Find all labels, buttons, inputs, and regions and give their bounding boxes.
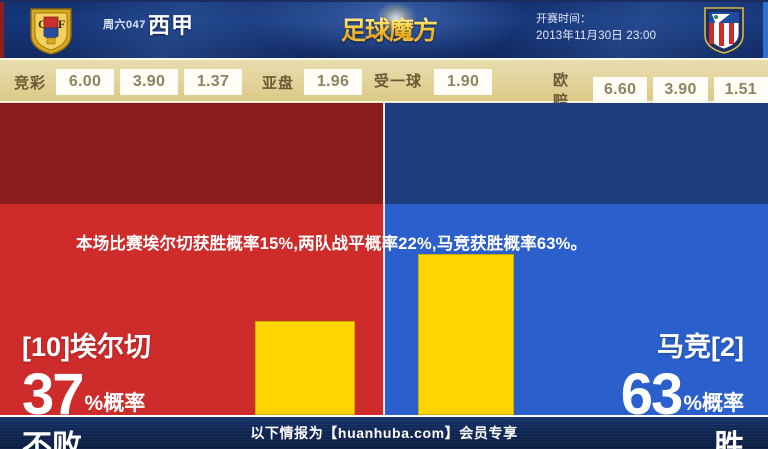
brand-logo[interactable]: 足球魔方 bbox=[327, 4, 451, 54]
home-probability-bar bbox=[255, 321, 355, 415]
home-team-name: [10]埃尔切 bbox=[22, 331, 151, 363]
odds-group-jingcai: 竞彩 6.00 3.90 1.37 bbox=[14, 69, 242, 95]
league-name: 西甲 bbox=[148, 8, 194, 40]
match-number: 周六047 bbox=[103, 16, 146, 32]
home-outcome-label: 不败 bbox=[22, 429, 151, 449]
headline-band-left bbox=[0, 103, 384, 204]
home-probability-unit: %概率 bbox=[85, 389, 146, 423]
headline-band-right bbox=[384, 103, 768, 204]
home-team-block: [10]埃尔切 37 %概率 不败 bbox=[22, 331, 151, 449]
away-probability-value: 63 bbox=[621, 367, 682, 423]
kickoff-block: 开赛时间： 2013年11月30日 23:00 bbox=[536, 11, 656, 45]
odds-group-asian-handicap: 亚盘 1.96 受一球 1.90 bbox=[262, 69, 492, 95]
match-probability-infographic: C F 周六047 西甲 足球魔方 开赛时间： 2 bbox=[0, 0, 768, 449]
panel-divider bbox=[383, 103, 385, 415]
euro-cell-draw[interactable]: 3.90 bbox=[653, 77, 707, 103]
away-probability-unit: %概率 bbox=[683, 389, 744, 423]
odds-cell-home[interactable]: 6.00 bbox=[56, 69, 114, 95]
away-outcome-label: 胜 bbox=[621, 429, 744, 449]
odds-bar: 竞彩 6.00 3.90 1.37 亚盘 1.96 受一球 1.90 欧赔 6.… bbox=[0, 58, 768, 102]
odds-cell-away[interactable]: 1.37 bbox=[184, 69, 242, 95]
atletico-madrid-crest-icon bbox=[700, 5, 748, 55]
probability-chart: 本场比赛埃尔切获胜概率15%,两队战平概率22%,马竞获胜概率63%。 [10]… bbox=[0, 103, 768, 415]
header-left-edge bbox=[0, 0, 4, 58]
headline-text: 本场比赛埃尔切获胜概率15%,两队战平概率22%,马竞获胜概率63%。 bbox=[76, 229, 696, 259]
handicap-line: 受一球 bbox=[368, 69, 428, 95]
handicap-cell-away[interactable]: 1.90 bbox=[434, 69, 492, 95]
svg-text:F: F bbox=[58, 17, 65, 31]
away-probability-row: 63 %概率 bbox=[621, 367, 744, 423]
home-probability-row: 37 %概率 bbox=[22, 367, 151, 423]
header-bar: C F 周六047 西甲 足球魔方 开赛时间： 2 bbox=[0, 0, 768, 58]
odds-group-label: 亚盘 bbox=[262, 72, 294, 93]
elche-cf-crest-icon: C F bbox=[27, 5, 75, 55]
away-team-name: 马竞[2] bbox=[621, 331, 744, 363]
brand-text: 足球魔方 bbox=[341, 11, 437, 47]
away-team-block: 马竞[2] 63 %概率 胜 bbox=[621, 331, 744, 449]
away-probability-bar bbox=[418, 254, 514, 415]
euro-cell-away[interactable]: 1.51 bbox=[714, 77, 768, 103]
kickoff-value: 2013年11月30日 23:00 bbox=[536, 28, 656, 45]
footer-text: 以下情报为【huanhuba.com】会员专享 bbox=[250, 423, 517, 443]
euro-cell-home[interactable]: 6.60 bbox=[593, 77, 647, 103]
handicap-cell-home[interactable]: 1.96 bbox=[304, 69, 362, 95]
odds-group-label: 竞彩 bbox=[14, 72, 46, 93]
kickoff-label: 开赛时间： bbox=[536, 11, 656, 28]
home-probability-value: 37 bbox=[22, 367, 83, 423]
header-right-edge bbox=[763, 0, 768, 58]
odds-cell-draw[interactable]: 3.90 bbox=[120, 69, 178, 95]
